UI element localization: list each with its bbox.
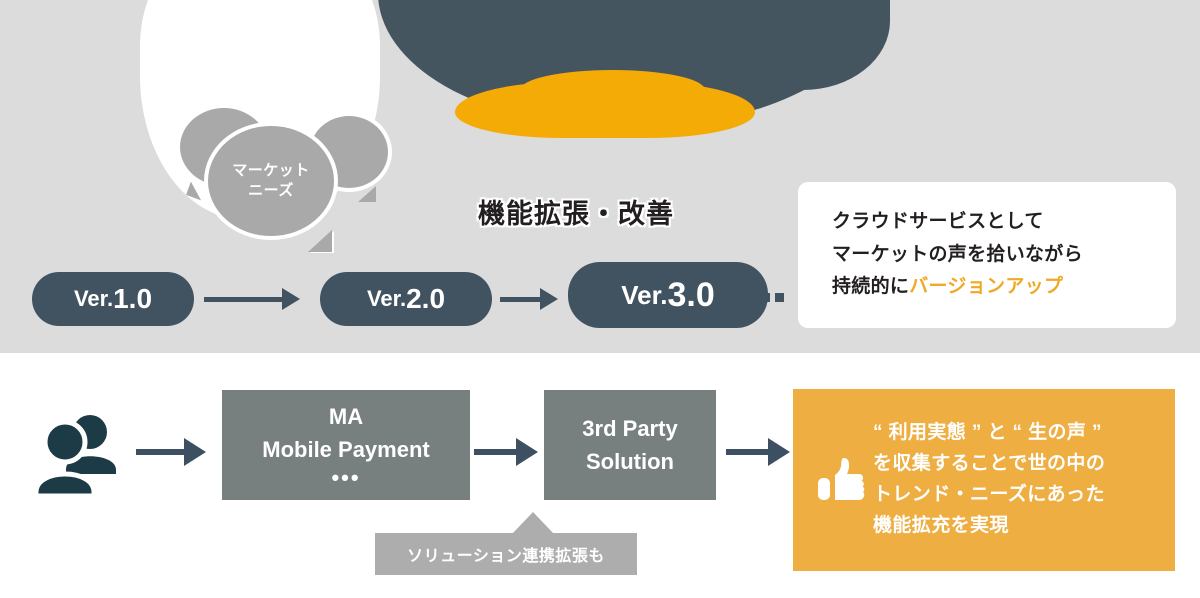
arrow-shaft [474, 449, 516, 455]
dot-square [775, 293, 784, 302]
arrow-head [768, 438, 790, 466]
arrow-shaft [500, 297, 540, 302]
speech-bubble-market-needs: マーケット ニーズ [204, 122, 338, 240]
arrow-shaft [726, 449, 768, 455]
flow-box-line-1: 3rd Party [582, 412, 677, 445]
arrow-users-to-ma-icon [136, 440, 206, 464]
info-card-line-1: クラウドサービスとして [832, 206, 1176, 239]
thumbs-up-icon-wrap [807, 454, 873, 506]
info-card-line-3-highlight: バージョンアップ [909, 276, 1063, 297]
bubble-tail-icon [308, 230, 332, 252]
version-number: 3.0 [668, 276, 715, 315]
version-continuation-dots-icon [740, 293, 784, 302]
version-number: 1.0 [113, 283, 152, 315]
thumbs-up-icon [814, 454, 866, 506]
diagram-canvas: マーケット ニーズ 機能拡張・改善 Ver. 1.0 Ver. 2.0 [0, 0, 1200, 598]
version-pill-3[interactable]: Ver. 3.0 [568, 262, 768, 328]
arrow-v1-to-v2-icon [204, 289, 300, 309]
arrow-head [540, 288, 558, 310]
callout-pointer-icon [512, 512, 554, 534]
bubble-label-line-1: マーケット [232, 161, 310, 181]
arrow-ma-to-3rd-party-icon [474, 440, 538, 464]
result-line-2: を収集することで世の中の [873, 449, 1105, 480]
callout-label: ソリューション連携拡張も [407, 542, 605, 566]
arrow-head [184, 438, 206, 466]
dot-square [761, 293, 770, 302]
people-icon [28, 412, 136, 498]
flow-box-line-1: MA [329, 400, 363, 433]
version-prefix: Ver. [367, 286, 406, 312]
version-prefix: Ver. [74, 286, 113, 312]
cloud-service-info-card: クラウドサービスとして マーケットの声を拾いながら 持続的にバージョンアップ [798, 182, 1176, 328]
bubble-tail-icon [358, 186, 376, 202]
arrow-shaft [136, 449, 184, 455]
solution-integration-callout: ソリューション連携拡張も [375, 533, 637, 575]
result-panel-text: “ 利用実態 ” と “ 生の声 ” を収集することで世の中の トレンド・ニーズ… [873, 418, 1105, 541]
arrow-3rd-party-to-result-icon [726, 440, 790, 464]
feature-expansion-heading: 機能拡張・改善 [478, 192, 674, 231]
bubble-label-line-2: ニーズ [232, 181, 310, 201]
result-line-4: 機能拡充を実現 [873, 511, 1105, 542]
flow-box-line-2: Mobile Payment [262, 433, 429, 466]
arrow-v2-to-v3-icon [500, 289, 558, 309]
decorative-orange-band-secondary [520, 70, 705, 110]
info-card-line-2: マーケットの声を拾いながら [832, 239, 1176, 272]
speech-bubble-label: マーケット ニーズ [232, 161, 310, 202]
dash-segment [740, 295, 756, 300]
flow-box-ellipsis: ••• [331, 466, 360, 490]
arrow-head [516, 438, 538, 466]
version-prefix: Ver. [621, 280, 667, 311]
result-line-1: “ 利用実態 ” と “ 生の声 ” [873, 418, 1105, 449]
version-pill-1[interactable]: Ver. 1.0 [32, 272, 194, 326]
top-section: マーケット ニーズ 機能拡張・改善 Ver. 1.0 Ver. 2.0 [0, 0, 1200, 353]
flow-box-line-2: Solution [586, 445, 674, 478]
arrow-shaft [204, 297, 282, 302]
info-card-line-3-prefix: 持続的に [832, 276, 909, 297]
version-pill-2[interactable]: Ver. 2.0 [320, 272, 492, 326]
result-panel: “ 利用実態 ” と “ 生の声 ” を収集することで世の中の トレンド・ニーズ… [793, 389, 1175, 571]
version-number: 2.0 [406, 283, 445, 315]
flow-box-3rd-party-solution[interactable]: 3rd Party Solution [544, 390, 716, 500]
flow-box-ma-mobile-payment[interactable]: MA Mobile Payment ••• [222, 390, 470, 500]
arrow-head [282, 288, 300, 310]
info-card-line-3: 持続的にバージョンアップ [832, 271, 1176, 304]
result-line-3: トレンド・ニーズにあった [873, 480, 1105, 511]
